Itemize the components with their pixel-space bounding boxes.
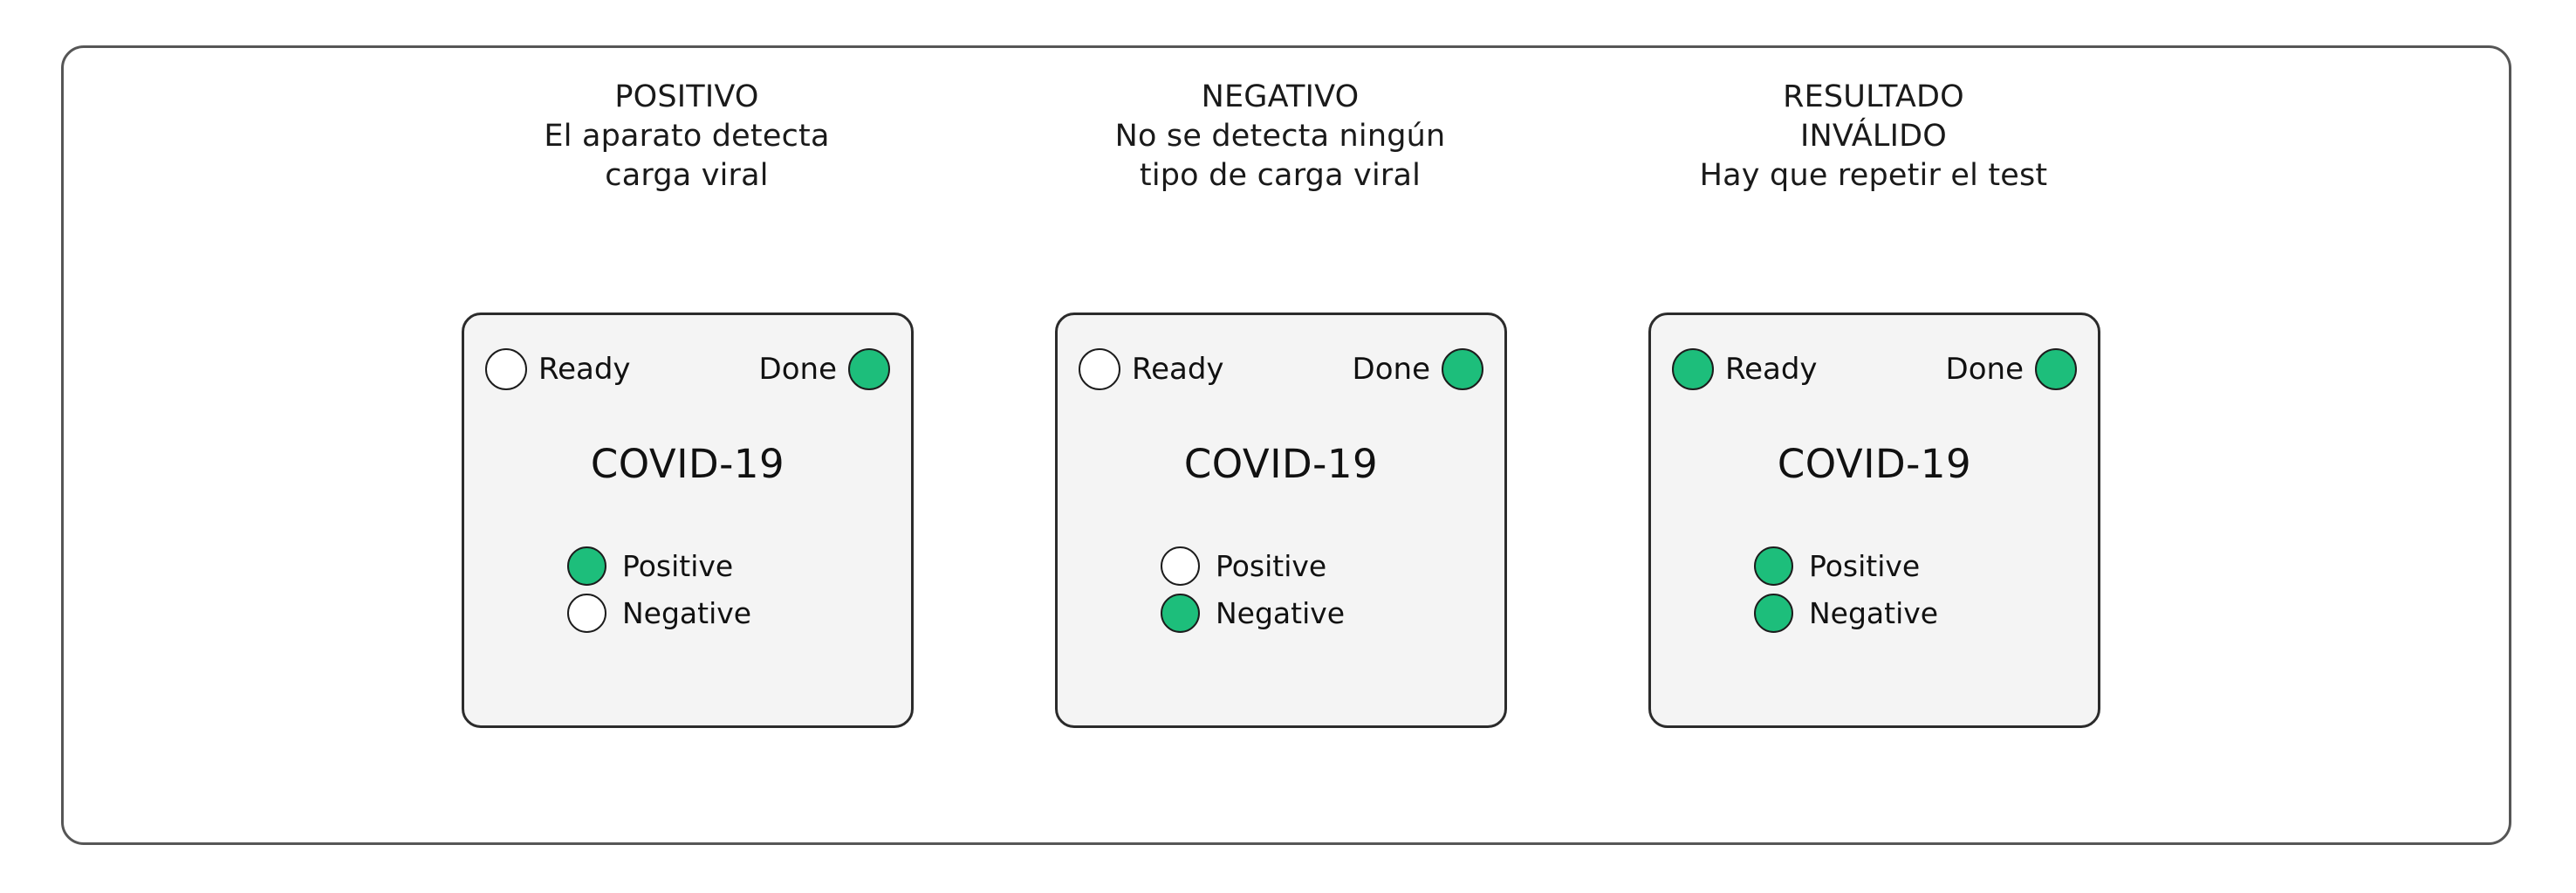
device-status-row: Ready Done xyxy=(1079,347,1483,392)
positive-label: Positive xyxy=(1216,552,1326,580)
done-status: Done xyxy=(759,348,890,390)
done-label: Done xyxy=(759,354,837,384)
ready-label: Ready xyxy=(1132,354,1224,384)
ready-status: Ready xyxy=(1672,348,1818,390)
device-status-row: Ready Done xyxy=(485,347,890,392)
ready-led-icon xyxy=(1079,348,1120,390)
positive-label: Positive xyxy=(622,552,733,580)
result-indicator-list: Positive Negative xyxy=(567,544,751,638)
positive-led-icon xyxy=(1754,546,1793,586)
done-label: Done xyxy=(1353,354,1430,384)
negative-led-icon xyxy=(1754,594,1793,633)
device-status-row: Ready Done xyxy=(1672,347,2077,392)
panel-caption: POSITIVO El aparato detecta carga viral xyxy=(408,78,966,196)
caption-line-3: tipo de carga viral xyxy=(1001,156,1559,196)
caption-line-1: RESULTADO xyxy=(1594,78,2153,117)
ready-status: Ready xyxy=(485,348,631,390)
result-panel-negativo: NEGATIVO No se detecta ningún tipo de ca… xyxy=(1001,48,1559,842)
result-row-negative: Negative xyxy=(1754,591,1938,635)
device-brand-label: COVID-19 xyxy=(464,444,911,484)
negative-label: Negative xyxy=(1216,599,1345,628)
done-led-icon xyxy=(1442,348,1483,390)
device-brand-label: COVID-19 xyxy=(1058,444,1504,484)
caption-line-1: NEGATIVO xyxy=(1001,78,1559,117)
done-status: Done xyxy=(1353,348,1483,390)
done-led-icon xyxy=(848,348,890,390)
caption-line-3: carga viral xyxy=(408,156,966,196)
result-indicator-list: Positive Negative xyxy=(1754,544,1938,638)
test-device-card: Ready Done COVID-19 Positive Ne xyxy=(462,313,914,728)
result-row-positive: Positive xyxy=(1754,544,1938,587)
result-row-positive: Positive xyxy=(1161,544,1345,587)
panels-row: POSITIVO El aparato detecta carga viral … xyxy=(64,48,2509,842)
negative-label: Negative xyxy=(622,599,751,628)
ready-led-icon xyxy=(1672,348,1714,390)
caption-line-2: No se detecta ningún xyxy=(1001,117,1559,156)
test-device-card: Ready Done COVID-19 Positive Ne xyxy=(1648,313,2100,728)
ready-status: Ready xyxy=(1079,348,1224,390)
ready-label: Ready xyxy=(1725,354,1818,384)
result-panel-invalido: RESULTADO INVÁLIDO Hay que repetir el te… xyxy=(1594,48,2153,842)
caption-line-2: El aparato detecta xyxy=(408,117,966,156)
caption-line-3: Hay que repetir el test xyxy=(1594,156,2153,196)
done-label: Done xyxy=(1946,354,2024,384)
done-led-icon xyxy=(2035,348,2077,390)
negative-label: Negative xyxy=(1809,599,1938,628)
result-row-negative: Negative xyxy=(1161,591,1345,635)
figure-frame: POSITIVO El aparato detecta carga viral … xyxy=(61,45,2511,845)
negative-led-icon xyxy=(567,594,606,633)
negative-led-icon xyxy=(1161,594,1200,633)
result-indicator-list: Positive Negative xyxy=(1161,544,1345,638)
positive-label: Positive xyxy=(1809,552,1920,580)
result-row-positive: Positive xyxy=(567,544,751,587)
ready-label: Ready xyxy=(538,354,631,384)
device-brand-label: COVID-19 xyxy=(1651,444,2098,484)
positive-led-icon xyxy=(1161,546,1200,586)
caption-line-1: POSITIVO xyxy=(408,78,966,117)
ready-led-icon xyxy=(485,348,527,390)
panel-caption: NEGATIVO No se detecta ningún tipo de ca… xyxy=(1001,78,1559,196)
caption-line-2: INVÁLIDO xyxy=(1594,117,2153,156)
test-device-card: Ready Done COVID-19 Positive Ne xyxy=(1055,313,1507,728)
panel-caption: RESULTADO INVÁLIDO Hay que repetir el te… xyxy=(1594,78,2153,196)
positive-led-icon xyxy=(567,546,606,586)
done-status: Done xyxy=(1946,348,2077,390)
result-row-negative: Negative xyxy=(567,591,751,635)
result-panel-positivo: POSITIVO El aparato detecta carga viral … xyxy=(408,48,966,842)
